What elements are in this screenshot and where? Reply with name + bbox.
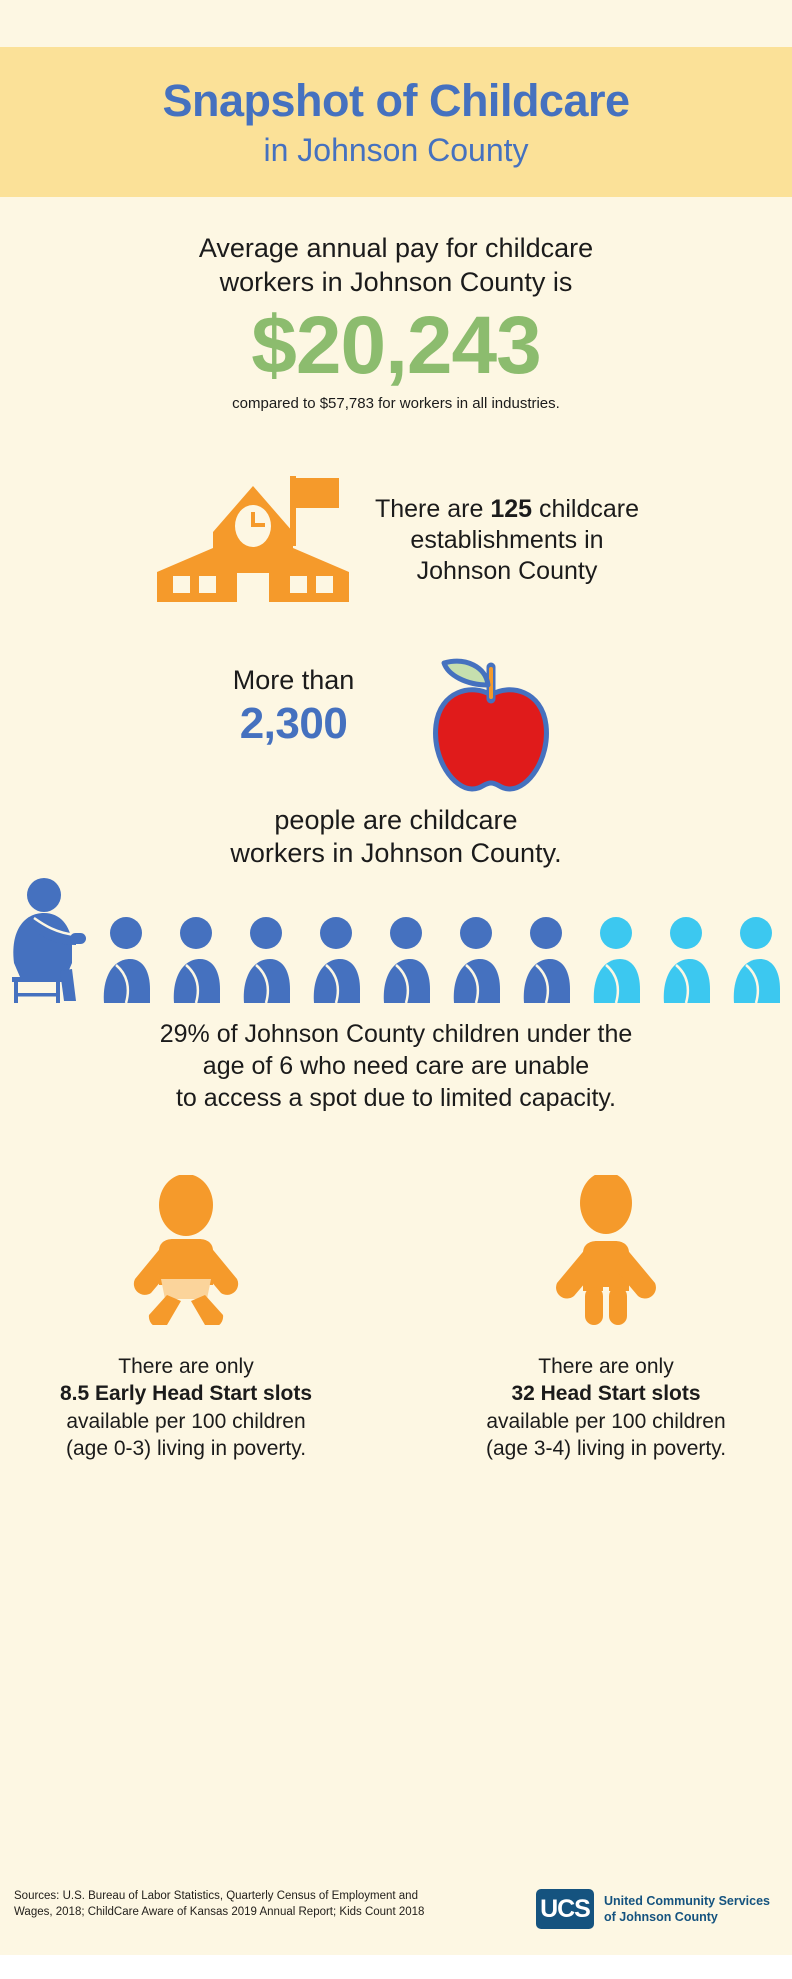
footer: Sources: U.S. Bureau of Labor Statistics… <box>0 1889 792 1949</box>
child-icon <box>541 1175 671 1325</box>
headstart-column-early: There are only 8.5 Early Head Start slot… <box>41 1175 331 1462</box>
ucs-logo-text: United Community Services of Johnson Cou… <box>604 1893 770 1925</box>
establishments-line-2: establishments in <box>410 526 603 554</box>
child-figure <box>384 917 430 1003</box>
ucs-logo-mark: UCS <box>536 1889 594 1929</box>
headstart-early-line-4: (age 0-3) living in poverty. <box>66 1437 306 1460</box>
establishments-line-3: Johnson County <box>417 557 598 585</box>
headstart-column-standard: There are only 32 Head Start slots avail… <box>461 1175 751 1462</box>
infographic-page: Snapshot of Childcare in Johnson County … <box>0 0 792 1979</box>
capacity-caption: 29% of Johnson County children under the… <box>0 1018 792 1114</box>
page-title: Snapshot of Childcare <box>162 77 629 124</box>
child-figure <box>104 917 150 1003</box>
sources-line-1: Sources: U.S. Bureau of Labor Statistics… <box>14 1890 418 1902</box>
capacity-caption-line-1: 29% of Johnson County children under the <box>160 1020 633 1048</box>
establishments-text-pre: There are <box>375 495 490 523</box>
school-building-icon <box>153 470 353 610</box>
headstart-standard-line-1: There are only <box>538 1355 673 1378</box>
baby-icon <box>121 1175 251 1325</box>
pay-fine-print: compared to $57,783 for workers in all i… <box>0 395 792 413</box>
top-margin-strip <box>0 0 792 47</box>
teacher-on-chair-icon <box>12 878 86 1003</box>
headstart-section: There are only 8.5 Early Head Start slot… <box>0 1175 792 1462</box>
capacity-caption-line-2: age of 6 who need care are unable <box>203 1052 589 1080</box>
workers-caption-line-2: workers in Johnson County. <box>230 838 561 868</box>
page-subtitle: in Johnson County <box>263 134 528 168</box>
workers-count: 2,300 <box>233 696 355 751</box>
headstart-text-standard: There are only 32 Head Start slots avail… <box>486 1353 726 1462</box>
sources-text: Sources: U.S. Bureau of Labor Statistics… <box>14 1889 424 1921</box>
pay-lead-line-1: Average annual pay for childcare <box>0 232 792 265</box>
child-figure <box>174 917 220 1003</box>
apple-icon <box>424 655 559 800</box>
workers-more-than-label: More than <box>233 665 355 696</box>
headstart-text-early: There are only 8.5 Early Head Start slot… <box>60 1353 312 1462</box>
establishments-text-post: childcare <box>532 495 639 523</box>
child-figure <box>314 917 360 1003</box>
headstart-standard-line-3: available per 100 children <box>486 1410 725 1433</box>
headstart-early-line-2: 8.5 Early Head Start slots <box>60 1382 312 1405</box>
establishments-section: There are 125 childcare establishments i… <box>0 470 792 610</box>
child-figure-unavailable <box>594 917 640 1003</box>
capacity-pictogram <box>0 873 792 1003</box>
child-figure-group <box>104 917 780 1003</box>
headstart-standard-line-2: 32 Head Start slots <box>511 1382 700 1405</box>
workers-number-group: More than 2,300 <box>233 655 355 751</box>
child-figure <box>524 917 570 1003</box>
child-figure <box>454 917 500 1003</box>
child-figure-unavailable <box>664 917 710 1003</box>
sources-line-2: Wages, 2018; ChildCare Aware of Kansas 2… <box>14 1906 424 1918</box>
ucs-logo-line-1: United Community Services <box>604 1894 770 1908</box>
headstart-standard-line-4: (age 3-4) living in poverty. <box>486 1437 726 1460</box>
pay-amount: $20,243 <box>0 305 792 387</box>
bottom-margin-strip <box>0 1955 792 1979</box>
establishments-text: There are 125 childcare establishments i… <box>375 494 639 587</box>
headstart-early-line-3: available per 100 children <box>66 1410 305 1433</box>
headstart-early-line-1: There are only <box>118 1355 253 1378</box>
ucs-logo: UCS United Community Services of Johnson… <box>536 1889 778 1929</box>
ucs-logo-line-2: of Johnson County <box>604 1910 718 1924</box>
pay-lead-line-2: workers in Johnson County is <box>0 266 792 299</box>
child-figure-unavailable <box>734 917 780 1003</box>
workers-caption: people are childcare workers in Johnson … <box>0 804 792 870</box>
workers-section: More than 2,300 people are childcare wor… <box>0 655 792 870</box>
workers-caption-line-1: people are childcare <box>274 805 517 835</box>
establishments-count: 125 <box>490 495 532 523</box>
capacity-caption-line-3: to access a spot due to limited capacity… <box>176 1084 616 1112</box>
child-figure <box>244 917 290 1003</box>
header-banner: Snapshot of Childcare in Johnson County <box>0 47 792 197</box>
